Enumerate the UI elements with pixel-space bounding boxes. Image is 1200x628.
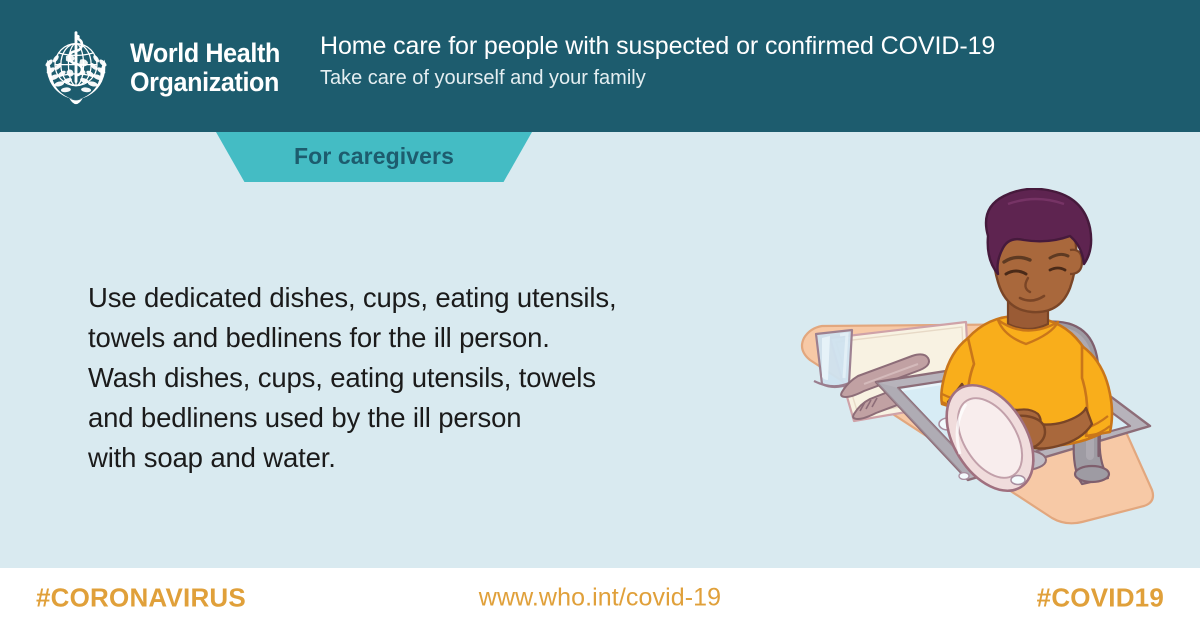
footer-bar: #CORONAVIRUS www.who.int/covid-19 #COVID… (0, 568, 1200, 628)
advice-text: Use dedicated dishes, cups, eating utens… (88, 278, 768, 478)
advice-line: Wash dishes, cups, eating utensils, towe… (88, 358, 768, 398)
who-wordmark: World Health Organization (130, 39, 291, 97)
footer-hashtag-coronavirus: #CORONAVIRUS (36, 583, 246, 614)
header-title-block: Home care for people with suspected or c… (320, 30, 995, 92)
who-emblem-icon (34, 26, 118, 110)
person-washing-dishes-illustration (752, 188, 1200, 544)
who-wordmark-line2: Organization (130, 68, 280, 97)
drinking-glass (814, 330, 852, 387)
advice-line: towels and bedlinens for the ill person. (88, 318, 768, 358)
who-wordmark-line1: World Health (130, 39, 280, 68)
header-bar: World Health Organization Home care for … (0, 0, 1200, 132)
footer-hashtag-covid19: #COVID19 (1037, 583, 1164, 614)
advice-line: with soap and water. (88, 438, 768, 478)
page-subtitle: Take care of yourself and your family (320, 64, 995, 92)
who-logo: World Health Organization (34, 26, 291, 110)
audience-banner: For caregivers (216, 132, 532, 182)
infographic-poster: World Health Organization Home care for … (0, 0, 1200, 628)
footer-url[interactable]: www.who.int/covid-19 (479, 584, 721, 613)
advice-line: and bedlinens used by the ill person (88, 398, 768, 438)
audience-banner-label: For caregivers (216, 132, 532, 182)
advice-line: Use dedicated dishes, cups, eating utens… (88, 278, 768, 318)
page-title: Home care for people with suspected or c… (320, 30, 995, 62)
